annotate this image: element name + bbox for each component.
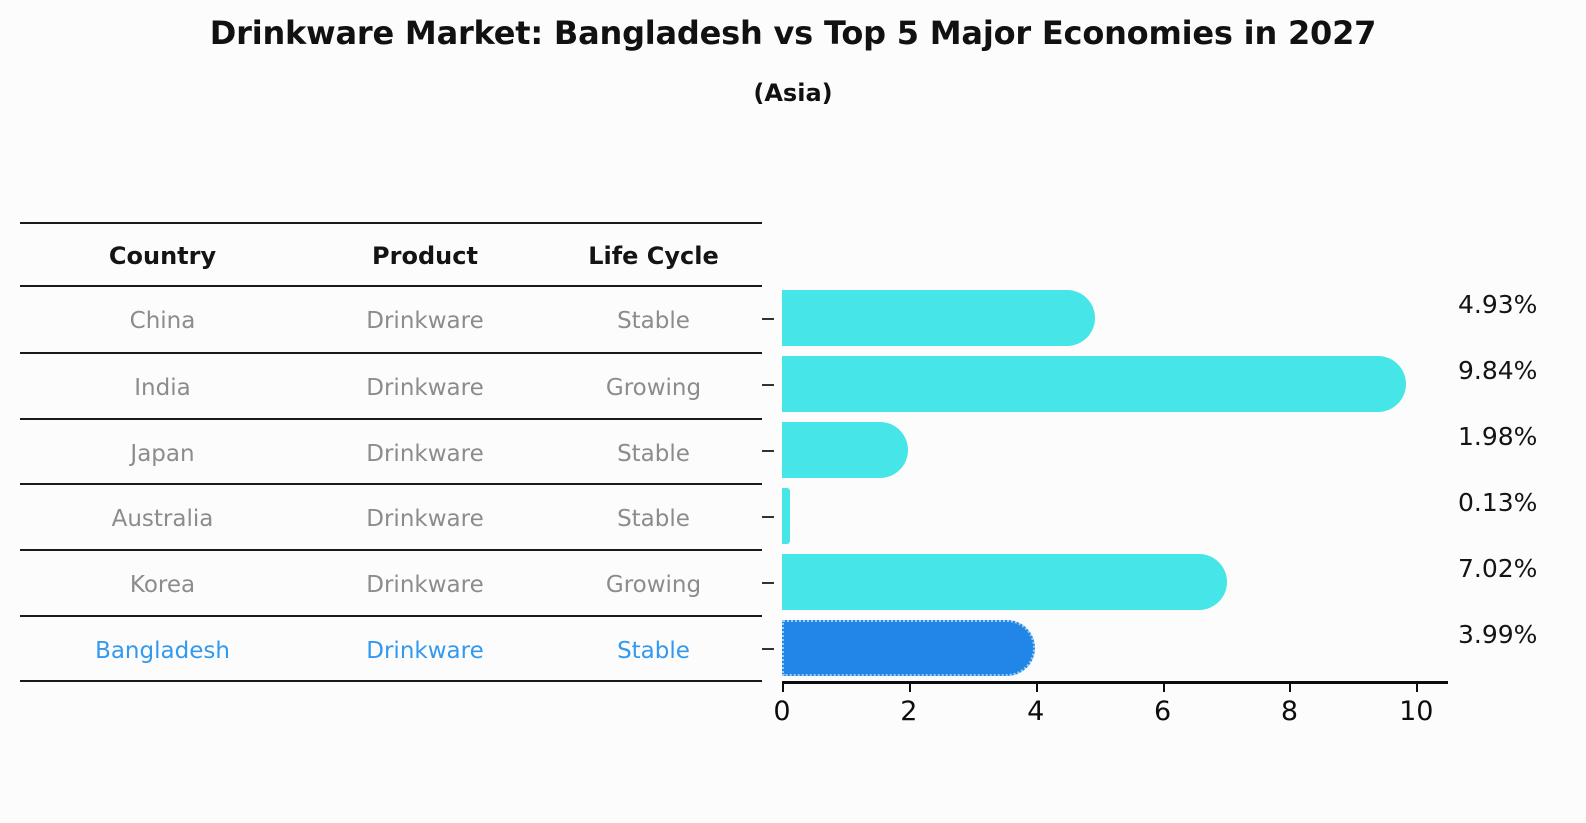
chart-subtitle: (Asia): [0, 79, 1586, 107]
column-header-country: Country: [20, 242, 305, 270]
y-tick: [762, 648, 774, 650]
table-row[interactable]: China Drinkware Stable: [20, 290, 762, 352]
bar-bangladesh[interactable]: [782, 620, 1035, 676]
bar-india[interactable]: [782, 356, 1406, 412]
table-rule: [20, 549, 762, 551]
x-tick: [1163, 681, 1165, 692]
y-tick: [762, 318, 774, 320]
x-tick: [1036, 681, 1038, 692]
cell-life-cycle: Stable: [545, 441, 762, 467]
table-rule: [20, 483, 762, 485]
bar-value-japan: 1.98%: [1458, 422, 1586, 451]
y-tick: [762, 450, 774, 452]
cell-product: Drinkware: [305, 506, 545, 532]
table-rule: [20, 352, 762, 354]
x-tick-label: 2: [879, 696, 939, 727]
cell-product: Drinkware: [305, 638, 545, 664]
table-row[interactable]: Korea Drinkware Growing: [20, 554, 762, 616]
chart-title: Drinkware Market: Bangladesh vs Top 5 Ma…: [0, 14, 1586, 52]
cell-life-cycle: Growing: [545, 375, 762, 401]
cell-country: Australia: [20, 506, 305, 532]
bar-australia[interactable]: [782, 488, 790, 544]
table-rule-bottom: [20, 680, 762, 682]
cell-product: Drinkware: [305, 572, 545, 598]
cell-life-cycle: Stable: [545, 638, 762, 664]
country-table: Country Product Life Cycle China Drinkwa…: [20, 220, 762, 682]
cell-country: India: [20, 375, 305, 401]
x-tick-label: 4: [1006, 696, 1066, 727]
cell-country: Japan: [20, 441, 305, 467]
y-tick: [762, 384, 774, 386]
cell-country: Korea: [20, 572, 305, 598]
table-row-highlight[interactable]: Bangladesh Drinkware Stable: [20, 620, 762, 682]
table-row[interactable]: Japan Drinkware Stable: [20, 423, 762, 485]
bar-value-india: 9.84%: [1458, 356, 1586, 385]
x-tick-label: 6: [1133, 696, 1193, 727]
table-rule: [20, 615, 762, 617]
column-header-life-cycle: Life Cycle: [545, 242, 762, 270]
table-row[interactable]: Australia Drinkware Stable: [20, 488, 762, 550]
bar-value-australia: 0.13%: [1458, 488, 1586, 517]
cell-life-cycle: Growing: [545, 572, 762, 598]
x-tick: [909, 681, 911, 692]
x-tick-label: 8: [1259, 696, 1319, 727]
column-header-product: Product: [305, 242, 545, 270]
table-rule: [20, 418, 762, 420]
chart-canvas: Drinkware Market: Bangladesh vs Top 5 Ma…: [0, 0, 1586, 823]
x-tick-label: 10: [1386, 696, 1446, 727]
bar-japan[interactable]: [782, 422, 908, 478]
cell-product: Drinkware: [305, 375, 545, 401]
cell-country: China: [20, 308, 305, 334]
x-tick: [1289, 681, 1291, 692]
cell-country: Bangladesh: [20, 638, 305, 664]
cell-life-cycle: Stable: [545, 506, 762, 532]
bar-value-bangladesh: 3.99%: [1458, 620, 1586, 649]
x-tick: [782, 681, 784, 692]
bar-value-china: 4.93%: [1458, 290, 1586, 319]
cell-product: Drinkware: [305, 441, 545, 467]
table-row[interactable]: India Drinkware Growing: [20, 357, 762, 419]
table-rule-top: [20, 222, 762, 224]
x-tick-label: 0: [752, 696, 812, 727]
table-header-row: Country Product Life Cycle: [20, 228, 762, 284]
table-rule-header: [20, 285, 762, 287]
bar-chart-plot: 4.93% 9.84% 1.98% 0.13% 7.02% 3.99%: [782, 220, 1448, 682]
cell-life-cycle: Stable: [545, 308, 762, 334]
y-tick: [762, 516, 774, 518]
x-tick: [1416, 681, 1418, 692]
y-tick: [762, 582, 774, 584]
bar-value-korea: 7.02%: [1458, 554, 1586, 583]
x-axis-line: [782, 681, 1448, 684]
cell-product: Drinkware: [305, 308, 545, 334]
bar-korea[interactable]: [782, 554, 1227, 610]
bar-china[interactable]: [782, 290, 1095, 346]
